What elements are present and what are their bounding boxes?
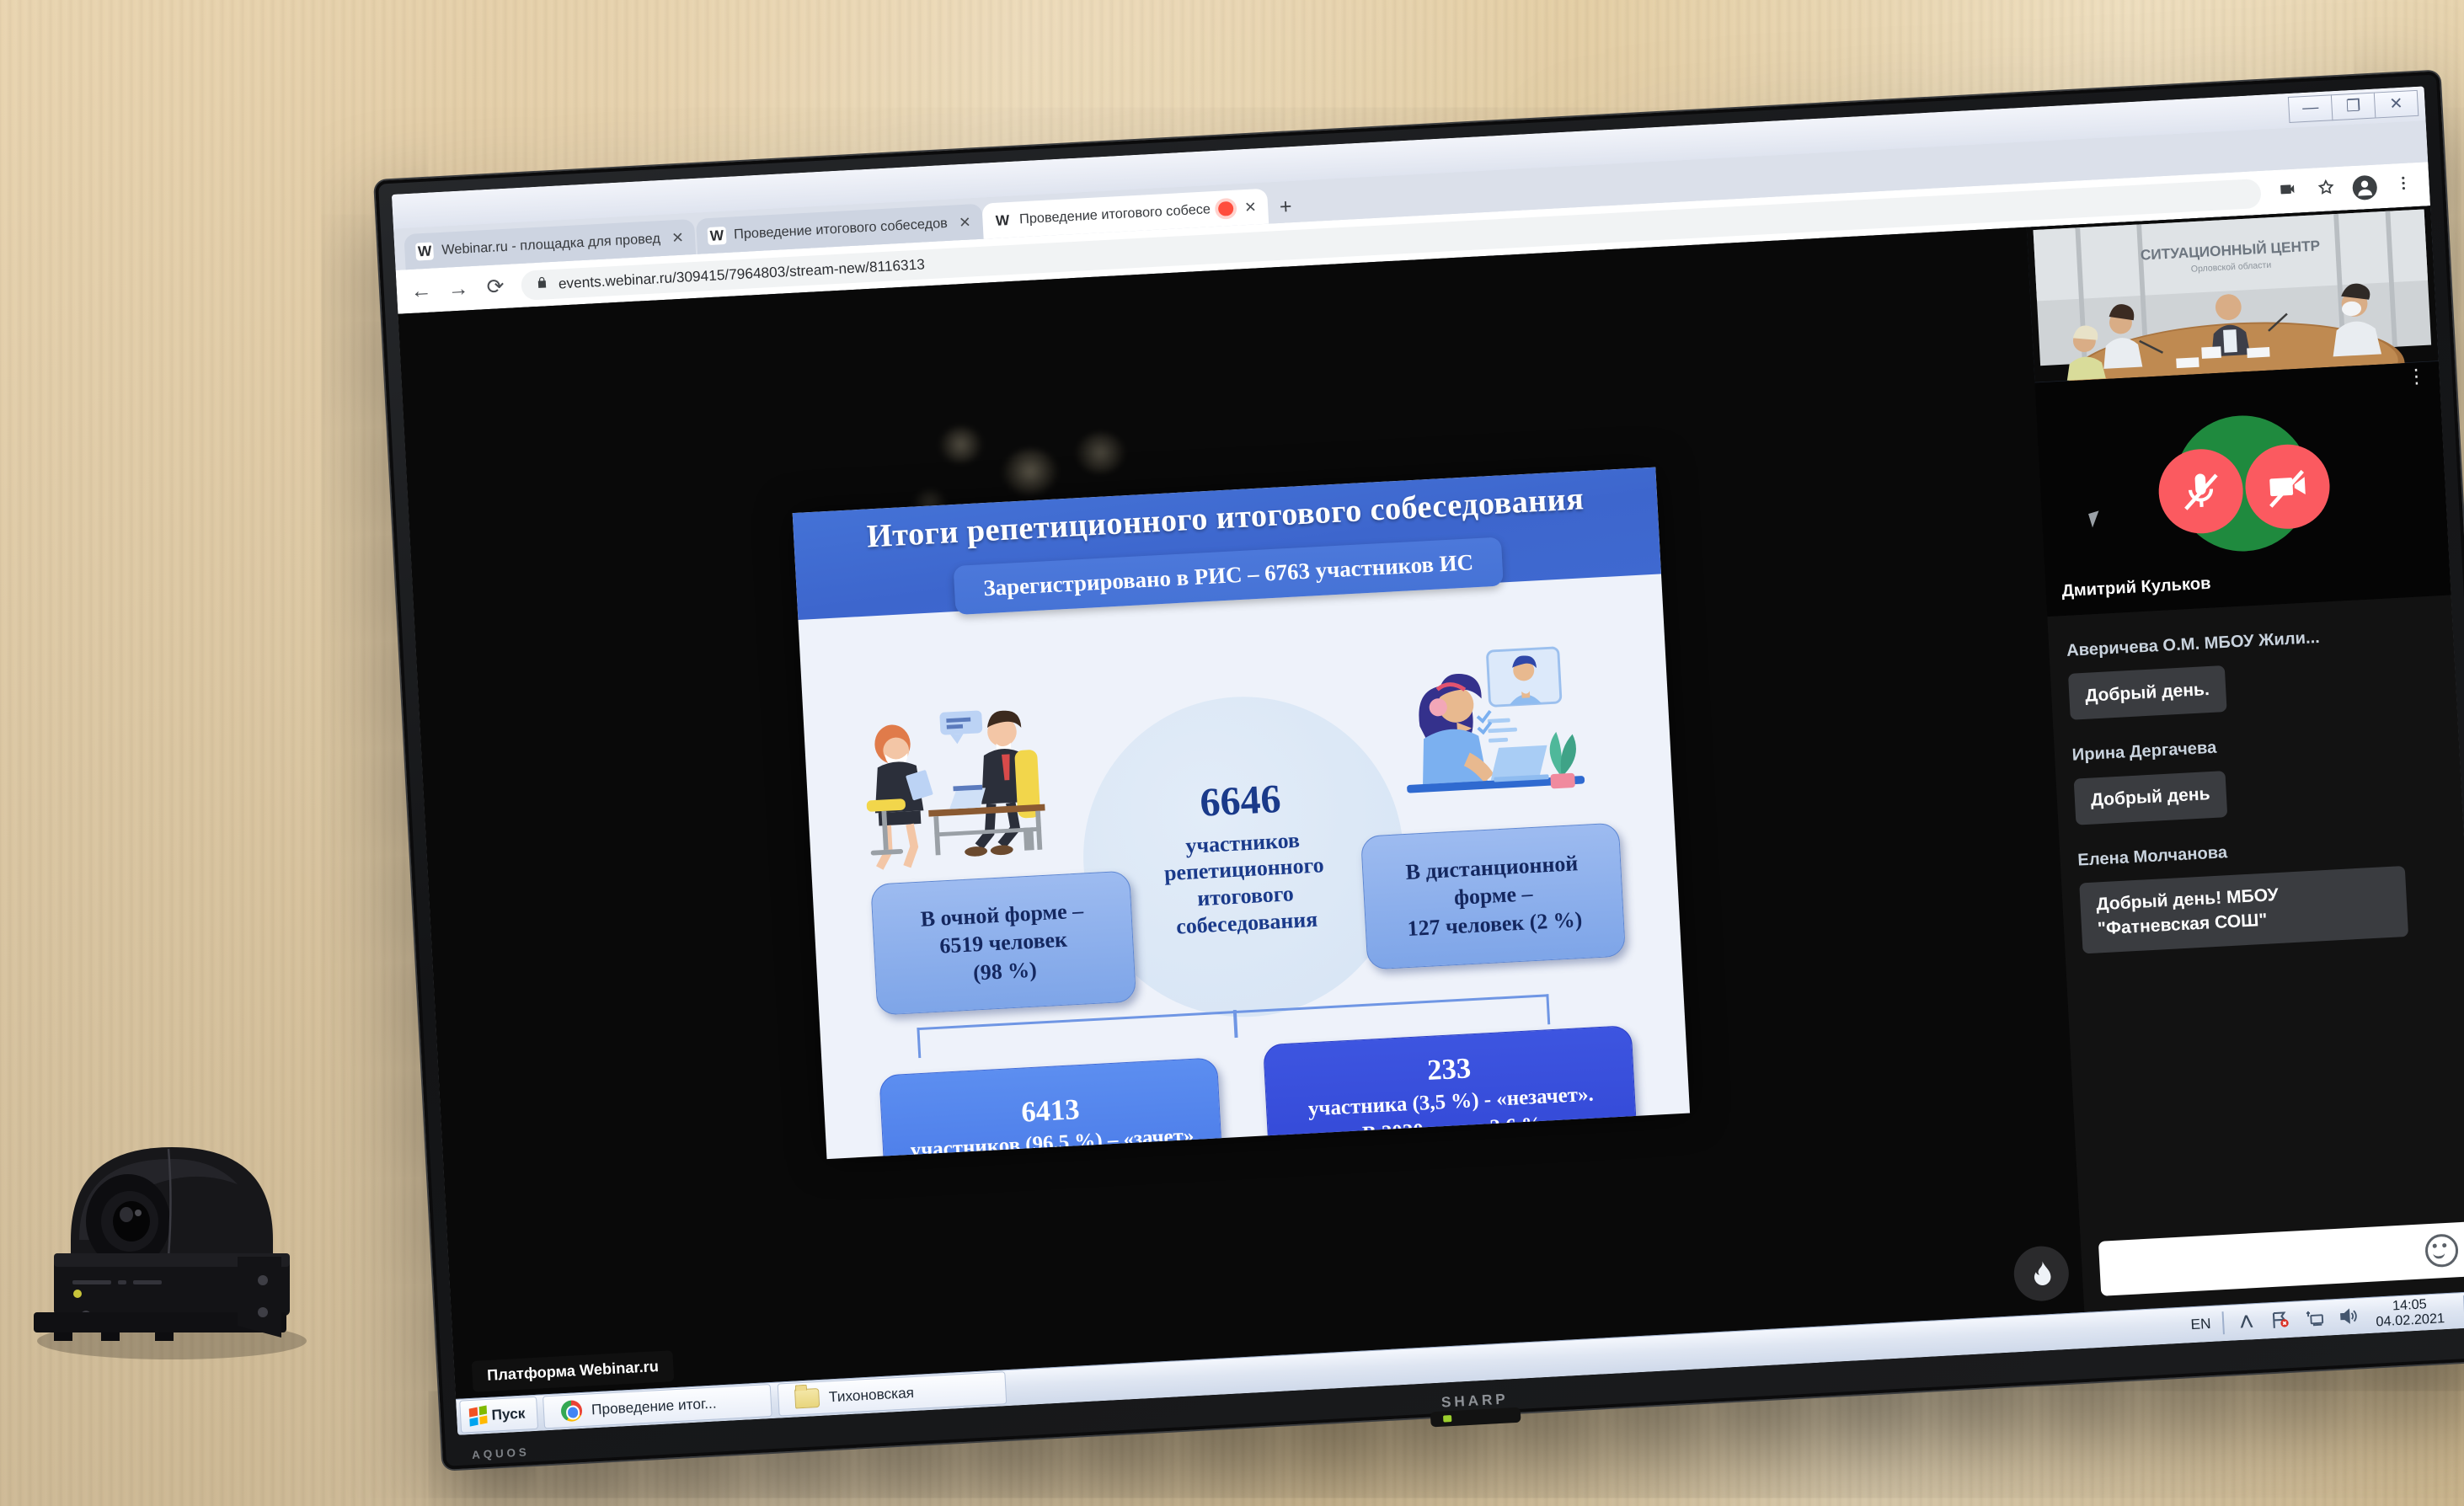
volume-icon[interactable] bbox=[2337, 1306, 2360, 1327]
lock-icon bbox=[536, 275, 549, 293]
start-button[interactable]: Пуск bbox=[460, 1397, 539, 1433]
tab-title: Проведение итогового собеседов bbox=[734, 216, 949, 243]
start-label: Пуск bbox=[492, 1405, 526, 1424]
interview-illustration bbox=[851, 680, 1087, 883]
reload-icon[interactable]: ⟳ bbox=[484, 274, 507, 300]
smiley-icon[interactable] bbox=[2425, 1234, 2460, 1268]
tab-close-icon[interactable]: ✕ bbox=[959, 213, 972, 232]
flag-alert-icon[interactable] bbox=[2269, 1309, 2292, 1331]
presentation-stage: Итоги репетиционного итогового собеседов… bbox=[398, 227, 2084, 1398]
chat-message: Добрый день bbox=[2074, 771, 2228, 825]
webinar-favicon: W bbox=[708, 227, 726, 245]
taskbar-item-label: Проведение итог... bbox=[591, 1395, 718, 1419]
close-button[interactable]: ✕ bbox=[2374, 90, 2419, 119]
clock-date: 04.02.2021 bbox=[2376, 1311, 2445, 1330]
folder-icon bbox=[795, 1388, 820, 1409]
box-fail: 233 участника (3,5 %) - «незачет».В 2020… bbox=[1264, 1026, 1638, 1160]
tab-title: Проведение итогового собесе bbox=[1019, 201, 1211, 227]
remote-work-illustration bbox=[1399, 638, 1615, 820]
chat-input[interactable] bbox=[2098, 1221, 2464, 1296]
windows-logo-icon bbox=[469, 1406, 488, 1427]
profile-avatar[interactable] bbox=[2353, 175, 2378, 200]
clock[interactable]: 14:05 04.02.2021 bbox=[2370, 1296, 2451, 1331]
presenter-menu-icon[interactable]: ⋮ bbox=[2407, 371, 2427, 382]
language-indicator[interactable]: EN bbox=[2191, 1315, 2212, 1333]
tray-separator bbox=[2222, 1311, 2225, 1334]
back-icon[interactable]: ← bbox=[409, 278, 433, 303]
television: SHARP AQUOS — ❐ ✕ W Webinar.ru - площадк… bbox=[375, 71, 2464, 1470]
chat-message: Добрый день! МБОУ "Фатневская СОШ" bbox=[2079, 866, 2409, 953]
minimize-button[interactable]: — bbox=[2289, 94, 2333, 122]
mouse-cursor bbox=[2089, 510, 2103, 527]
chat-panel: Аверичева О.М. МБОУ Жили... Добрый день.… bbox=[2047, 595, 2464, 1312]
taskbar-item-label: Тихоновская bbox=[829, 1384, 915, 1406]
webinar-favicon: W bbox=[416, 242, 435, 260]
total-number: 6646 bbox=[1199, 775, 1282, 829]
recording-indicator-icon bbox=[1219, 201, 1234, 216]
bokeh-light bbox=[1002, 447, 1059, 495]
chat-author: Елена Молчанова bbox=[2077, 831, 2446, 870]
window-controls: — ❐ ✕ bbox=[2289, 90, 2419, 123]
camera-icon[interactable] bbox=[2275, 179, 2301, 204]
network-icon[interactable] bbox=[2303, 1307, 2327, 1329]
tab-close-icon[interactable]: ✕ bbox=[671, 228, 685, 247]
menu-kebab-icon[interactable] bbox=[2392, 174, 2417, 198]
star-icon[interactable] bbox=[2314, 178, 2339, 202]
conference-room-video[interactable]: СИТУАЦИОННЫЙ ЦЕНТР Орловской области bbox=[2027, 206, 2439, 383]
chat-author: Аверичева О.М. МБОУ Жили... bbox=[2066, 622, 2435, 660]
url-text: events.webinar.ru/309415/7964803/stream-… bbox=[559, 255, 926, 292]
webinar-page: Итоги репетиционного итогового собеседов… bbox=[398, 206, 2464, 1399]
chrome-icon bbox=[560, 1400, 582, 1422]
presenter-tile[interactable]: ⋮ Дмитрий Кульков bbox=[2035, 361, 2451, 617]
presenter-name: Дмитрий Кульков bbox=[2061, 574, 2211, 601]
chat-author: Ирина Дергачева bbox=[2072, 727, 2441, 766]
forward-icon[interactable]: → bbox=[446, 276, 470, 302]
restore-button[interactable]: ❐ bbox=[2331, 93, 2375, 120]
new-tab-button[interactable]: + bbox=[1268, 190, 1305, 225]
bokeh-light bbox=[939, 425, 983, 463]
box-remote: В дистанционнойформе –127 человек (2 %) bbox=[1360, 822, 1626, 970]
chat-message: Добрый день. bbox=[2068, 665, 2227, 720]
ptz-conference-camera bbox=[20, 1088, 323, 1366]
presentation-slide: Итоги репетиционного итогового собеседов… bbox=[793, 467, 1690, 1159]
chevron-up-icon[interactable]: ˄ bbox=[2235, 1311, 2258, 1332]
box-in-person: В очной форме –6519 человек(98 %) bbox=[871, 871, 1136, 1016]
tab-close-icon[interactable]: ✕ bbox=[1244, 198, 1258, 216]
bokeh-light bbox=[1076, 431, 1126, 474]
tv-screen: — ❐ ✕ W Webinar.ru - площадка для провед… bbox=[393, 87, 2464, 1435]
chrome-window: — ❐ ✕ W Webinar.ru - площадка для провед… bbox=[393, 87, 2464, 1435]
webinar-favicon: W bbox=[993, 211, 1012, 230]
right-rail: СИТУАЦИОННЫЙ ЦЕНТР Орловской области bbox=[2027, 206, 2464, 1312]
tab-title: Webinar.ru - площадка для провед bbox=[441, 231, 661, 259]
box-pass: 6413 участников (96,5 %) – «зачет» bbox=[879, 1057, 1223, 1159]
